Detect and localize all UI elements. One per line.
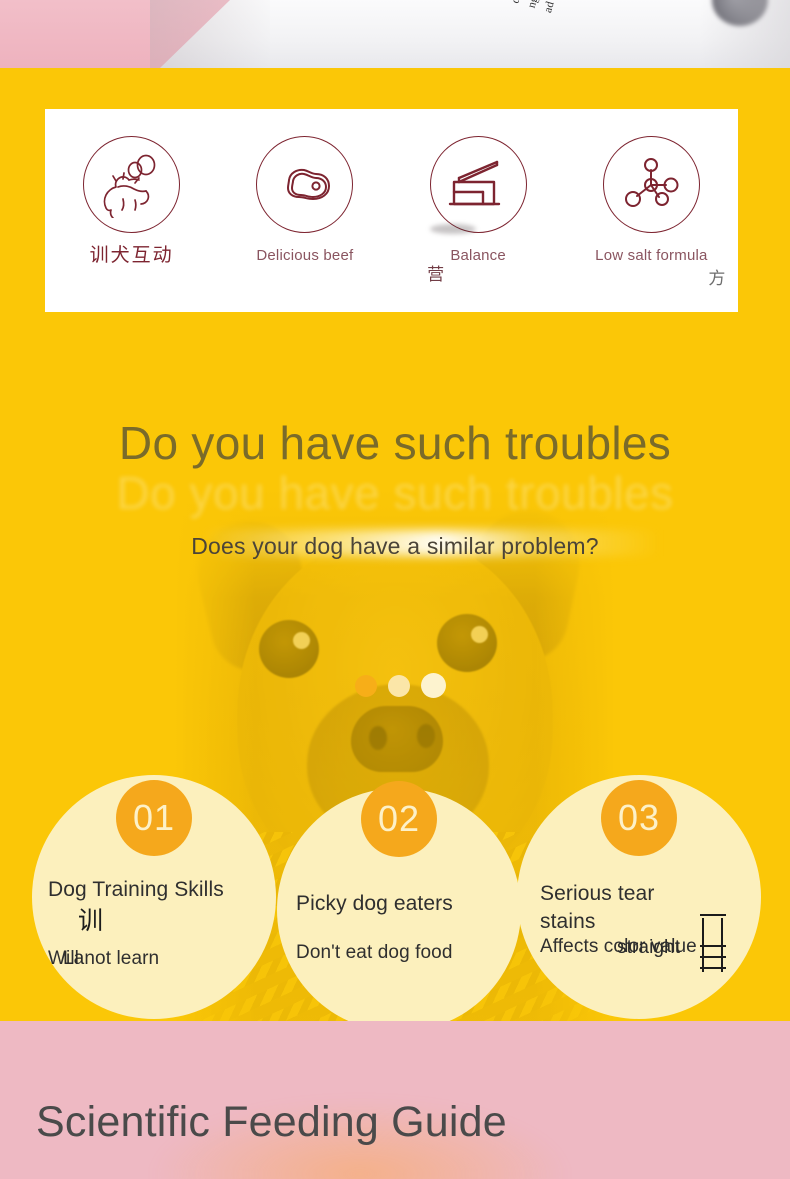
page-shadow [150, 0, 270, 68]
ladder-glyph-artifact [700, 914, 726, 976]
problem-badge-02: 02 [361, 781, 437, 857]
page-root: rabbit ju field, and Curiosity abbit cou… [0, 0, 790, 1179]
problem-title-02: Picky dog eaters [296, 890, 506, 918]
feature-item-delicious-beef[interactable]: Delicious beef [221, 136, 389, 264]
feature-label: Delicious beef [256, 248, 353, 264]
book-line: ad been s [539, 0, 674, 19]
feature-item-dog-training[interactable]: 训犬互动 [48, 136, 216, 264]
overlap-text-artifact-03: straight [617, 934, 680, 961]
dot-3 [421, 673, 446, 698]
feature-label: Balance [450, 248, 506, 264]
headline-ghost-artifact: Do you have such troubles [0, 466, 790, 520]
balance-scale-icon [430, 136, 527, 233]
overlap-glyph-artifact: 方 [708, 264, 725, 289]
beef-steak-icon [256, 136, 353, 233]
feature-label: 训犬互动 [90, 248, 174, 264]
problem-badge-03: 03 [601, 780, 677, 856]
dot-1 [355, 675, 377, 697]
problem-badge-01: 01 [116, 780, 192, 856]
feature-item-low-salt-formula[interactable]: Low salt formula 方 [567, 136, 735, 264]
dog-playing-ball-icon [83, 136, 180, 233]
render-smudge-artifact [430, 224, 476, 234]
dot-2 [388, 675, 410, 697]
overlap-glyph-artifact-01: 训 [78, 908, 103, 934]
book-page-text: rabbit ju field, and Curiosity abbit cou… [392, 0, 635, 8]
problem-circle-group: 01 02 03 Dog Training Skills Will not le… [0, 768, 790, 1021]
overlap-text-artifact-01: La [63, 945, 84, 972]
problem-title-01: Dog Training Skills [48, 876, 238, 904]
page-title: Do you have such troubles [0, 417, 790, 469]
dot-decoration [355, 673, 446, 698]
problem-desc-02: Don't eat dog food [296, 939, 511, 966]
feature-item-balance[interactable]: Balance 营 [394, 136, 562, 264]
problem-title-03: Serious tear stains [540, 880, 715, 936]
feature-label: Low salt formula [595, 248, 707, 264]
bottom-section-title: Scientific Feeding Guide [36, 1095, 516, 1149]
page-subtitle: Does your dog have a similar problem? [0, 531, 790, 561]
photo-edge-fade [700, 0, 790, 68]
overlap-glyph-artifact: 营 [427, 260, 444, 285]
yellow-main-section: Do you have such troubles [0, 68, 790, 1021]
molecule-icon [603, 136, 700, 233]
feature-highlights-card: 训犬互动 Delicious beef [45, 109, 738, 312]
bottom-pink-section: Scientific Feeding Guide [0, 1021, 790, 1179]
top-book-photo: rabbit ju field, and Curiosity abbit cou… [0, 0, 790, 68]
